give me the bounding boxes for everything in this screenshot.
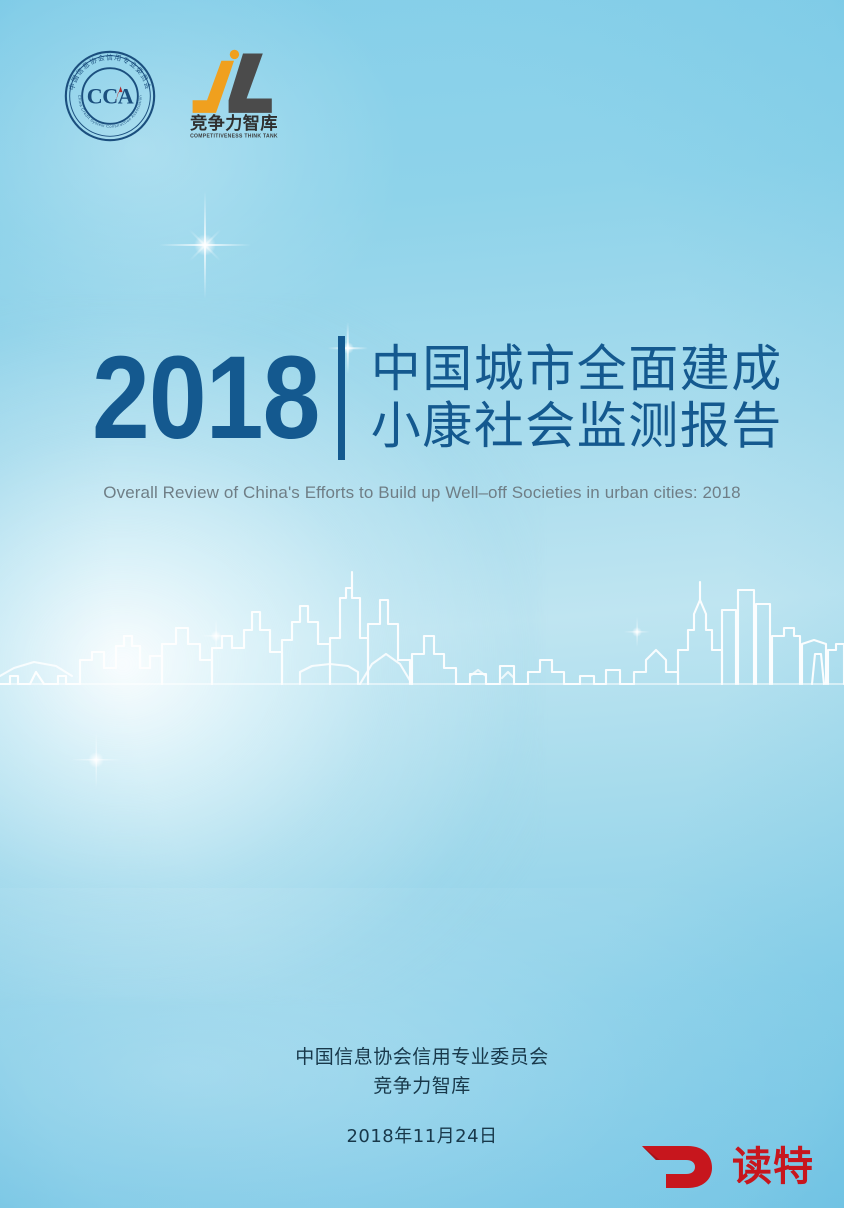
cca-logo: 中国信息协会信用专业委员会 China Credit System Constr… [62, 48, 158, 144]
footer-org-line-2: 竞争力智库 [0, 1072, 844, 1101]
competitiveness-think-tank-logo: 竞争力智库 COMPETITIVENESS THINK TANK [180, 48, 288, 140]
footer-org-line-1: 中国信息协会信用专业委员会 [0, 1043, 844, 1072]
cover-year: 2018 [92, 344, 319, 453]
page-subtitle: Overall Review of China's Efforts to Bui… [0, 483, 844, 503]
title-divider-rule [338, 336, 345, 460]
report-cover-page: 中国信息协会信用专业委员会 China Credit System Constr… [0, 0, 844, 1208]
logo-row: 中国信息协会信用专业委员会 China Credit System Constr… [62, 48, 288, 144]
page-title: 中国城市全面建成 小康社会监测报告 [371, 341, 783, 455]
title-line-2: 小康社会监测报告 [371, 398, 783, 455]
svg-text:CCA: CCA [87, 84, 134, 109]
dute-watermark: 读特 [636, 1130, 822, 1192]
title-block: 2018 中国城市全面建成 小康社会监测报告 [0, 336, 844, 460]
svg-text:读特: 读特 [732, 1144, 814, 1190]
svg-text:竞争力智库: 竞争力智库 [190, 113, 278, 134]
svg-text:COMPETITIVENESS THINK TANK: COMPETITIVENESS THINK TANK [190, 134, 278, 140]
background-vignette [0, 0, 844, 1208]
title-line-1: 中国城市全面建成 [371, 341, 783, 398]
